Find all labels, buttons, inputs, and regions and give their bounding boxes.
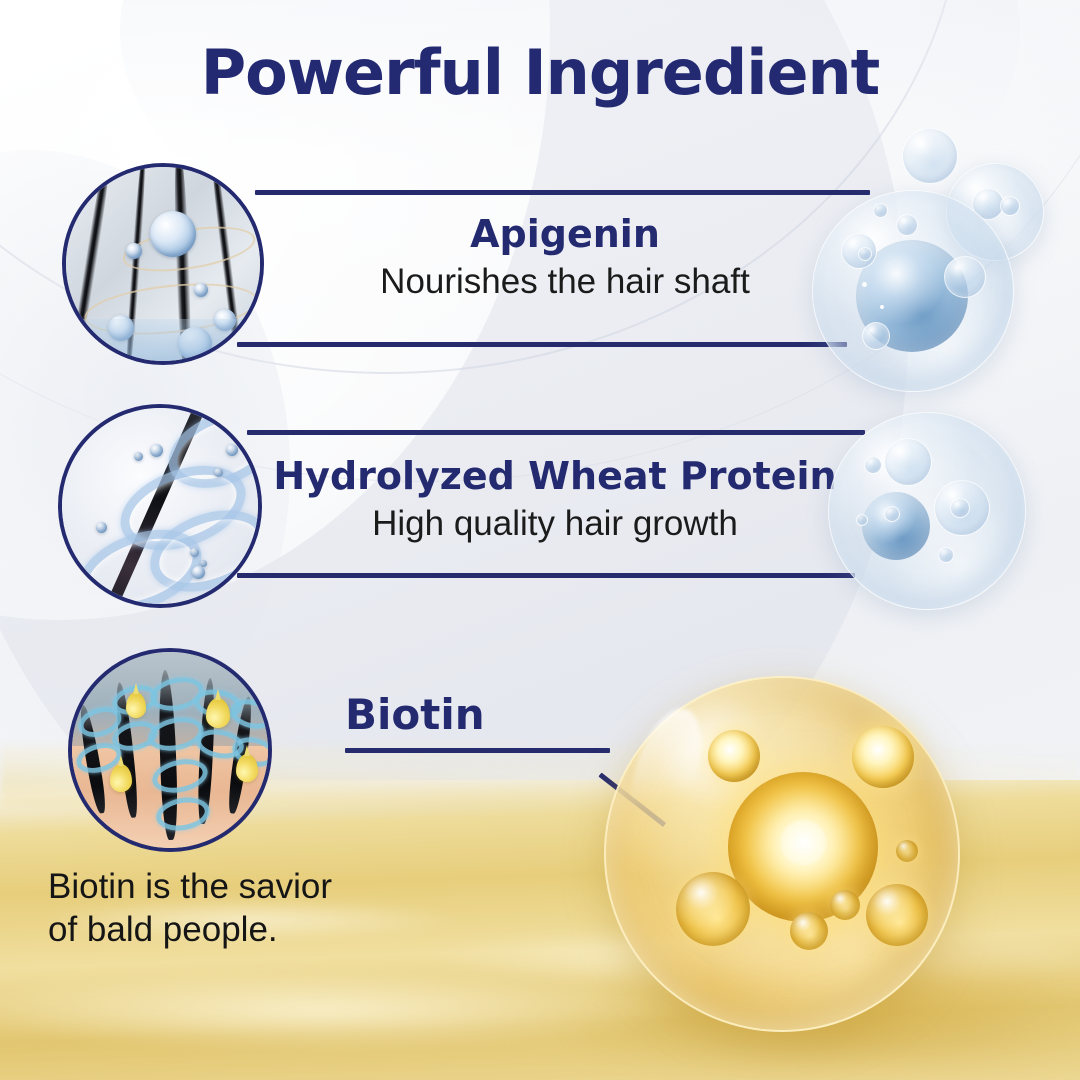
ingredient-thumbnail-biotin	[68, 648, 272, 852]
ingredient-card-apigenin: Apigenin Nourishes the hair shaft	[255, 213, 875, 303]
ingredient-thumbnail-apigenin	[62, 163, 264, 365]
ingredient-card-wheat-protein: Hydrolyzed Wheat Protein High quality ha…	[245, 455, 865, 545]
ingredient-name-wheat-protein: Hydrolyzed Wheat Protein	[245, 455, 865, 499]
gold-droplet-icon	[126, 692, 146, 718]
ingredient-description-apigenin: Nourishes the hair shaft	[255, 261, 875, 303]
ingredient-description-wheat-protein: High quality hair growth	[245, 503, 865, 545]
gold-droplet-icon	[206, 698, 230, 728]
poster-canvas: Powerful Ingredient Apigenin Nourishes t…	[0, 0, 1080, 1080]
ingredient-thumbnail-wheat-protein	[58, 404, 262, 608]
ingredient-name-apigenin: Apigenin	[255, 213, 875, 257]
ingredient-name-biotin: Biotin	[345, 690, 485, 739]
divider-line-wheat-bottom	[237, 573, 855, 578]
divider-line-apigenin-top	[255, 190, 870, 195]
gold-droplet-icon	[236, 754, 258, 782]
divider-line-apigenin-bottom	[237, 342, 847, 347]
divider-line-wheat-top	[247, 430, 865, 435]
biotin-caption: Biotin is the savior of bald people.	[48, 866, 332, 951]
page-title: Powerful Ingredient	[0, 36, 1080, 109]
pointer-line-biotin-horizontal	[345, 748, 610, 753]
gold-droplet-icon	[110, 764, 132, 792]
